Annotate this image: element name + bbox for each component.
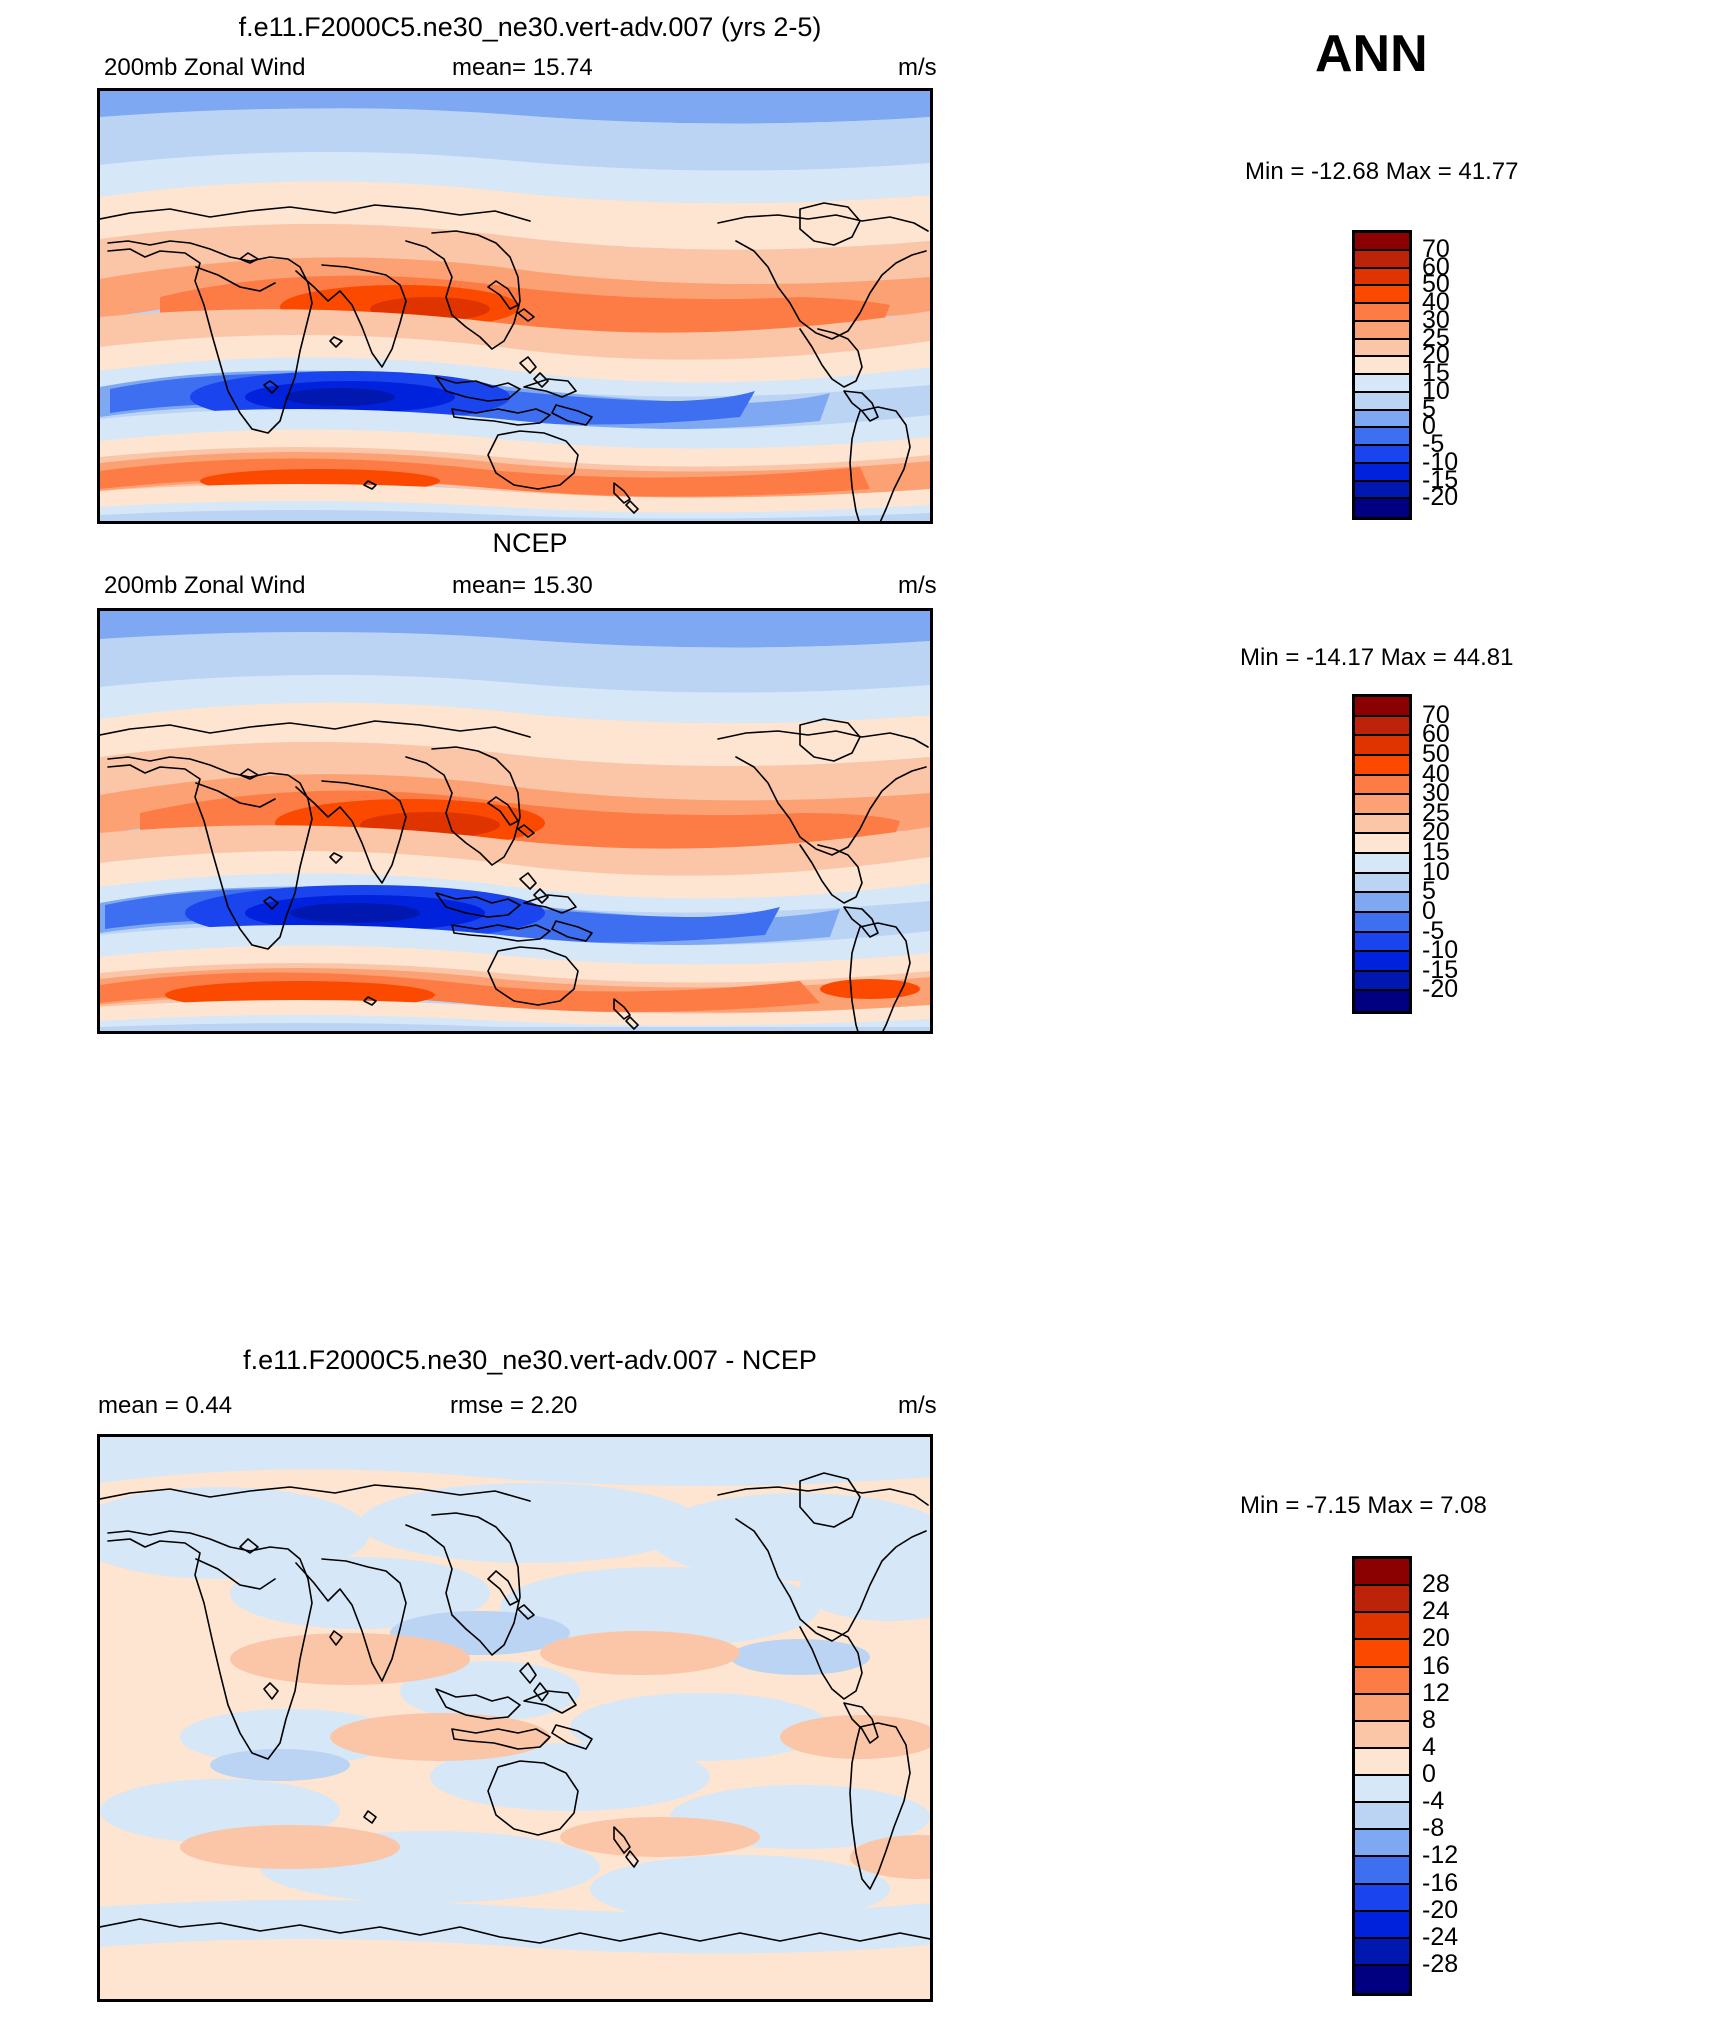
colorbar-band	[1355, 834, 1409, 854]
colorbar-band	[1355, 952, 1409, 972]
colorbar-tick-label: 20	[1422, 1624, 1450, 1653]
colorbar-band	[1355, 756, 1409, 776]
minmax-model: Min = -12.68 Max = 41.77	[1245, 158, 1519, 186]
colorbar-tick-label: 8	[1422, 1706, 1436, 1735]
colorbar-band	[1355, 1857, 1409, 1884]
colorbar-band	[1355, 1939, 1409, 1966]
colorbar-band	[1355, 854, 1409, 874]
colorbar-band	[1355, 717, 1409, 737]
colorbar-band	[1355, 1586, 1409, 1613]
colorbar-band	[1355, 776, 1409, 796]
colorbar-model	[1352, 230, 1412, 520]
panel-subtitle-units-obs: m/s	[898, 572, 937, 600]
colorbar-band	[1355, 251, 1409, 269]
colorbar-band	[1355, 1695, 1409, 1722]
colorbar-band	[1355, 286, 1409, 304]
panel-subtitle-mean-obs: mean= 15.30	[452, 572, 593, 600]
colorbar-tick-label: -20	[1422, 975, 1458, 1004]
colorbar-band	[1355, 1722, 1409, 1749]
colorbar-tick-label: 28	[1422, 1570, 1450, 1599]
colorbar-tick-label: 12	[1422, 1679, 1450, 1708]
panel-title-diff: f.e11.F2000C5.ne30_ne30.vert-adv.007 - N…	[100, 1345, 960, 1376]
colorbar-tick-label: -20	[1422, 483, 1458, 512]
colorbar-tick-label: -16	[1422, 1869, 1458, 1898]
panel-subtitle-units-model: m/s	[898, 54, 937, 82]
colorbar-band	[1355, 1912, 1409, 1939]
colorbar-tick-label: -4	[1422, 1787, 1444, 1816]
colorbar-band	[1355, 736, 1409, 756]
colorbar-labels-obs: 70605040302520151050-5-10-15-20	[1422, 694, 1512, 1014]
colorbar-band	[1355, 269, 1409, 287]
colorbar-band	[1355, 482, 1409, 500]
colorbar-band	[1355, 815, 1409, 835]
colorbar-labels-model: 70605040302520151050-5-10-15-20	[1422, 230, 1512, 520]
colorbar-band	[1355, 304, 1409, 322]
colorbar-band	[1355, 1640, 1409, 1667]
panel-title-model: f.e11.F2000C5.ne30_ne30.vert-adv.007 (yr…	[100, 12, 960, 43]
colorbar-band	[1355, 322, 1409, 340]
map-diff[interactable]	[97, 1434, 933, 2002]
panel-subtitle-mean-model: mean= 15.74	[452, 54, 593, 82]
colorbar-tick-label: -8	[1422, 1814, 1444, 1843]
season-label: ANN	[1315, 24, 1428, 84]
colorbar-tick-label: -20	[1422, 1896, 1458, 1925]
map-model[interactable]	[97, 88, 933, 524]
colorbar-band	[1355, 411, 1409, 429]
colorbar-band	[1355, 1803, 1409, 1830]
colorbar-band	[1355, 1966, 1409, 1993]
colorbar-band	[1355, 1749, 1409, 1776]
colorbar-tick-label: -28	[1422, 1950, 1458, 1979]
colorbar-tick-label: -12	[1422, 1841, 1458, 1870]
colorbar-tick-label: 0	[1422, 1760, 1436, 1789]
colorbar-band	[1355, 795, 1409, 815]
panel-subtitle-variable-obs: 200mb Zonal Wind	[104, 572, 305, 600]
colorbar-band	[1355, 428, 1409, 446]
colorbar-band	[1355, 1885, 1409, 1912]
panel-subtitle-variable-model: 200mb Zonal Wind	[104, 54, 305, 82]
colorbar-labels-diff: 2824201612840-4-8-12-16-20-24-28	[1422, 1556, 1512, 1996]
colorbar-obs	[1352, 694, 1412, 1014]
colorbar-tick-label: 16	[1422, 1652, 1450, 1681]
minmax-obs: Min = -14.17 Max = 44.81	[1240, 644, 1514, 672]
colorbar-tick-label: 24	[1422, 1597, 1450, 1626]
colorbar-band	[1355, 991, 1409, 1011]
colorbar-band	[1355, 375, 1409, 393]
map-field-model	[100, 91, 930, 521]
colorbar-band	[1355, 933, 1409, 953]
map-field-diff	[100, 1437, 930, 1999]
colorbar-band	[1355, 972, 1409, 992]
panel-title-obs: NCEP	[100, 528, 960, 559]
colorbar-band	[1355, 464, 1409, 482]
colorbar-band	[1355, 499, 1409, 517]
panel-subtitle-rmse-diff: rmse = 2.20	[450, 1392, 577, 1420]
colorbar-band	[1355, 913, 1409, 933]
map-field-obs	[100, 611, 930, 1031]
colorbar-band	[1355, 1559, 1409, 1586]
colorbar-band	[1355, 446, 1409, 464]
minmax-diff: Min = -7.15 Max = 7.08	[1240, 1492, 1487, 1520]
colorbar-band	[1355, 874, 1409, 894]
colorbar-tick-label: -24	[1422, 1923, 1458, 1952]
colorbar-band	[1355, 393, 1409, 411]
colorbar-band	[1355, 697, 1409, 717]
colorbar-band	[1355, 233, 1409, 251]
map-obs[interactable]	[97, 608, 933, 1034]
colorbar-band	[1355, 893, 1409, 913]
colorbar-band	[1355, 1668, 1409, 1695]
colorbar-band	[1355, 340, 1409, 358]
colorbar-band	[1355, 1776, 1409, 1803]
colorbar-band	[1355, 357, 1409, 375]
colorbar-diff	[1352, 1556, 1412, 1996]
colorbar-band	[1355, 1830, 1409, 1857]
panel-subtitle-mean-diff: mean = 0.44	[98, 1392, 232, 1420]
colorbar-tick-label: 4	[1422, 1733, 1436, 1762]
panel-subtitle-units-diff: m/s	[898, 1392, 937, 1420]
colorbar-band	[1355, 1613, 1409, 1640]
